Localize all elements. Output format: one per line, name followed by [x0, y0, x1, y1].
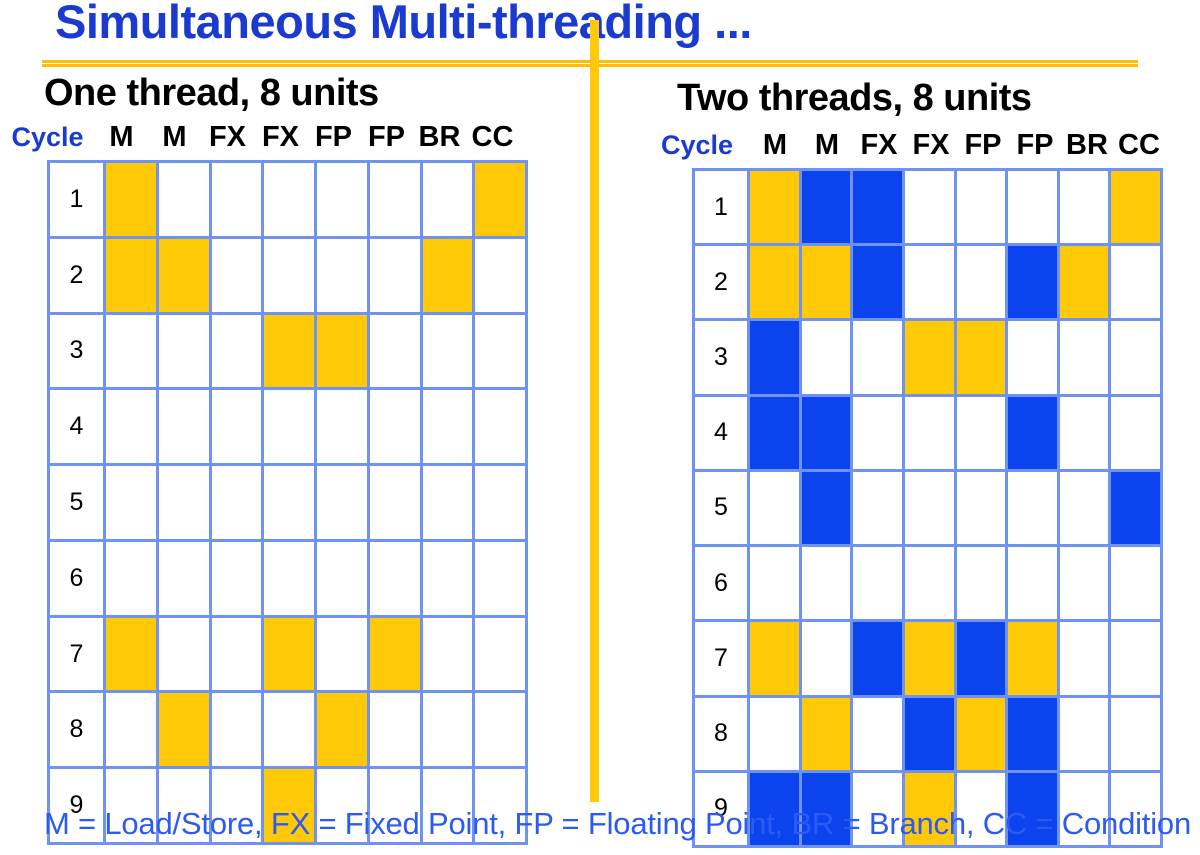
issue-slot-cell-m2-cycle-6: [159, 542, 209, 615]
cycle-number-cell: 1: [50, 163, 103, 236]
cycle-number-cell: 2: [695, 246, 747, 318]
issue-slot-cell-fx2-cycle-2: [905, 246, 954, 318]
issue-slot-cell-m1-cycle-3: [750, 321, 799, 393]
vertical-divider: [590, 20, 599, 802]
column-header-cycle: Cycle: [0, 122, 95, 153]
issue-slot-cell-cc-cycle-5: [1111, 472, 1160, 544]
issue-slot-cell-fx1-cycle-6: [853, 547, 902, 619]
issue-slot-cell-fp1-cycle-3: [957, 321, 1006, 393]
cycle-number-cell: 5: [695, 472, 747, 544]
issue-slot-cell-fx1-cycle-2: [212, 239, 262, 312]
issue-slot-cell-cc-cycle-4: [475, 390, 525, 463]
column-header-unit-fp2: FP: [1009, 129, 1061, 162]
issue-slot-cell-fx2-cycle-7: [264, 618, 314, 691]
issue-slot-cell-fp2-cycle-5: [1008, 472, 1057, 544]
column-header-row-left: Cycle M M FX FX FP FP BR CC: [0, 121, 533, 154]
issue-slot-cell-cc-cycle-2: [1111, 246, 1160, 318]
issue-slot-cell-fx1-cycle-6: [212, 542, 262, 615]
issue-slot-cell-fp2-cycle-6: [1008, 547, 1057, 619]
issue-slot-cell-m2-cycle-8: [802, 698, 851, 770]
issue-slot-cell-fp2-cycle-4: [1008, 397, 1057, 469]
issue-slot-cell-br-cycle-3: [423, 315, 473, 388]
cycle-number-cell: 2: [50, 239, 103, 312]
issue-slot-cell-br-cycle-8: [423, 693, 473, 766]
issue-slot-cell-fp2-cycle-3: [370, 315, 420, 388]
issue-slot-cell-br-cycle-2: [1060, 246, 1109, 318]
issue-slot-cell-br-cycle-2: [423, 239, 473, 312]
issue-slot-cell-fx2-cycle-3: [264, 315, 314, 388]
issue-slot-cell-cc-cycle-2: [475, 239, 525, 312]
issue-slot-cell-fp1-cycle-1: [317, 163, 367, 236]
issue-slot-cell-cc-cycle-6: [475, 542, 525, 615]
issue-slot-cell-m1-cycle-5: [106, 466, 156, 539]
issue-slot-cell-m2-cycle-7: [802, 622, 851, 694]
issue-slot-cell-fp2-cycle-2: [1008, 246, 1057, 318]
issue-slot-cell-m2-cycle-6: [802, 547, 851, 619]
issue-slot-cell-m2-cycle-4: [802, 397, 851, 469]
issue-slot-cell-cc-cycle-7: [1111, 622, 1160, 694]
issue-slot-cell-m2-cycle-1: [159, 163, 209, 236]
issue-slot-cell-br-cycle-7: [423, 618, 473, 691]
issue-slot-cell-m1-cycle-8: [750, 698, 799, 770]
issue-slot-cell-fp2-cycle-4: [370, 390, 420, 463]
issue-slot-cell-cc-cycle-7: [475, 618, 525, 691]
issue-slot-cell-m1-cycle-1: [750, 171, 799, 243]
issue-slot-cell-fx1-cycle-1: [853, 171, 902, 243]
column-header-unit-fx1: FX: [201, 121, 254, 154]
issue-slot-cell-fp2-cycle-1: [1008, 171, 1057, 243]
issue-slot-cell-br-cycle-4: [1060, 397, 1109, 469]
issue-slot-cell-cc-cycle-8: [1111, 698, 1160, 770]
issue-slot-cell-fx2-cycle-2: [264, 239, 314, 312]
column-header-unit-br: BR: [1061, 129, 1113, 162]
issue-slot-cell-fp2-cycle-8: [1008, 698, 1057, 770]
issue-slot-cell-fp1-cycle-2: [317, 239, 367, 312]
issue-slot-cell-fx2-cycle-3: [905, 321, 954, 393]
issue-slot-cell-m2-cycle-1: [802, 171, 851, 243]
issue-slot-cell-fx1-cycle-4: [853, 397, 902, 469]
issue-slot-cell-fx2-cycle-1: [264, 163, 314, 236]
issue-slot-cell-fx1-cycle-5: [212, 466, 262, 539]
issue-slot-cell-br-cycle-8: [1060, 698, 1109, 770]
issue-slot-cell-fx1-cycle-7: [212, 618, 262, 691]
cycle-number-cell: 3: [695, 321, 747, 393]
issue-slot-cell-br-cycle-5: [423, 466, 473, 539]
issue-slot-cell-br-cycle-6: [1060, 547, 1109, 619]
issue-slot-cell-fx2-cycle-6: [905, 547, 954, 619]
column-header-unit-cc: CC: [1113, 129, 1165, 162]
issue-slot-cell-m2-cycle-8: [159, 693, 209, 766]
issue-slot-cell-m1-cycle-3: [106, 315, 156, 388]
issue-slot-cell-br-cycle-1: [423, 163, 473, 236]
issue-slot-cell-fp2-cycle-5: [370, 466, 420, 539]
cycle-number-cell: 7: [695, 622, 747, 694]
issue-slot-cell-fx1-cycle-8: [853, 698, 902, 770]
column-header-row-right: Cycle M M FX FX FP FP BR CC: [645, 129, 1165, 162]
issue-slot-cell-fx1-cycle-1: [212, 163, 262, 236]
cycle-number-cell: 8: [695, 698, 747, 770]
cycle-number-cell: 6: [695, 547, 747, 619]
issue-slot-cell-fp1-cycle-3: [317, 315, 367, 388]
issue-slot-cell-fp1-cycle-7: [957, 622, 1006, 694]
issue-slot-cell-fx1-cycle-7: [853, 622, 902, 694]
issue-slot-cell-fp1-cycle-2: [957, 246, 1006, 318]
column-header-unit-fx2: FX: [905, 129, 957, 162]
issue-slot-cell-fp1-cycle-6: [957, 547, 1006, 619]
issue-slot-cell-m1-cycle-7: [106, 618, 156, 691]
column-header-unit-fp2: FP: [360, 121, 413, 154]
column-header-cycle: Cycle: [645, 130, 749, 161]
issue-slot-cell-br-cycle-4: [423, 390, 473, 463]
issue-slot-cell-m1-cycle-6: [106, 542, 156, 615]
issue-slot-cell-cc-cycle-5: [475, 466, 525, 539]
issue-slot-cell-cc-cycle-3: [475, 315, 525, 388]
issue-slot-cell-br-cycle-5: [1060, 472, 1109, 544]
issue-slot-cell-cc-cycle-6: [1111, 547, 1160, 619]
cycle-number-cell: 8: [50, 693, 103, 766]
column-header-unit-m1: M: [749, 129, 801, 162]
issue-slot-cell-fx2-cycle-4: [905, 397, 954, 469]
column-header-unit-br: BR: [413, 121, 466, 154]
issue-slot-grid-two-threads: 123456789: [692, 168, 1163, 848]
issue-slot-cell-cc-cycle-3: [1111, 321, 1160, 393]
issue-slot-cell-br-cycle-3: [1060, 321, 1109, 393]
issue-slot-cell-br-cycle-1: [1060, 171, 1109, 243]
issue-slot-cell-fx2-cycle-4: [264, 390, 314, 463]
column-header-unit-fp1: FP: [957, 129, 1009, 162]
issue-slot-cell-fp2-cycle-6: [370, 542, 420, 615]
issue-slot-cell-fp2-cycle-2: [370, 239, 420, 312]
column-header-unit-m1: M: [95, 121, 148, 154]
issue-slot-cell-fx1-cycle-3: [853, 321, 902, 393]
issue-slot-cell-fp1-cycle-7: [317, 618, 367, 691]
issue-slot-cell-m2-cycle-4: [159, 390, 209, 463]
issue-slot-cell-m1-cycle-8: [106, 693, 156, 766]
issue-slot-cell-fx2-cycle-7: [905, 622, 954, 694]
issue-slot-cell-fx2-cycle-1: [905, 171, 954, 243]
issue-slot-cell-cc-cycle-1: [1111, 171, 1160, 243]
issue-slot-cell-m1-cycle-5: [750, 472, 799, 544]
column-header-unit-m2: M: [801, 129, 853, 162]
legend-caption: M = Load/Store, FX = Fixed Point, FP = F…: [44, 806, 1194, 842]
issue-slot-cell-fp2-cycle-7: [1008, 622, 1057, 694]
cycle-number-cell: 4: [695, 397, 747, 469]
cycle-number-cell: 3: [50, 315, 103, 388]
issue-slot-cell-fp2-cycle-8: [370, 693, 420, 766]
column-header-unit-fx2: FX: [254, 121, 307, 154]
issue-slot-cell-fx2-cycle-6: [264, 542, 314, 615]
issue-slot-cell-fx1-cycle-8: [212, 693, 262, 766]
issue-slot-grid-one-thread: 123456789: [47, 160, 528, 845]
issue-slot-cell-m2-cycle-3: [802, 321, 851, 393]
cycle-number-cell: 6: [50, 542, 103, 615]
issue-slot-cell-fx1-cycle-2: [853, 246, 902, 318]
issue-slot-cell-m2-cycle-5: [802, 472, 851, 544]
issue-slot-cell-m2-cycle-2: [159, 239, 209, 312]
issue-slot-cell-fp1-cycle-5: [317, 466, 367, 539]
issue-slot-cell-fx2-cycle-8: [264, 693, 314, 766]
issue-slot-cell-br-cycle-7: [1060, 622, 1109, 694]
issue-slot-cell-fx1-cycle-4: [212, 390, 262, 463]
issue-slot-cell-m1-cycle-4: [106, 390, 156, 463]
cycle-number-cell: 1: [695, 171, 747, 243]
issue-slot-cell-fp2-cycle-1: [370, 163, 420, 236]
panel-heading-two-threads: Two threads, 8 units: [677, 77, 1032, 120]
issue-slot-cell-m1-cycle-1: [106, 163, 156, 236]
issue-slot-cell-m2-cycle-5: [159, 466, 209, 539]
issue-slot-cell-m1-cycle-6: [750, 547, 799, 619]
cycle-number-cell: 7: [50, 618, 103, 691]
issue-slot-cell-fp2-cycle-3: [1008, 321, 1057, 393]
column-header-unit-fx1: FX: [853, 129, 905, 162]
issue-slot-cell-fx2-cycle-5: [905, 472, 954, 544]
issue-slot-cell-cc-cycle-8: [475, 693, 525, 766]
issue-slot-cell-cc-cycle-1: [475, 163, 525, 236]
issue-slot-cell-fp1-cycle-4: [317, 390, 367, 463]
issue-slot-cell-m2-cycle-3: [159, 315, 209, 388]
column-header-unit-m2: M: [148, 121, 201, 154]
issue-slot-cell-m2-cycle-7: [159, 618, 209, 691]
issue-slot-cell-fx1-cycle-3: [212, 315, 262, 388]
issue-slot-cell-fp1-cycle-8: [957, 698, 1006, 770]
issue-slot-cell-fx2-cycle-5: [264, 466, 314, 539]
issue-slot-cell-m1-cycle-4: [750, 397, 799, 469]
issue-slot-cell-fp1-cycle-6: [317, 542, 367, 615]
page-title: Simultaneous Multi-threading ...: [55, 0, 1155, 49]
issue-slot-cell-cc-cycle-4: [1111, 397, 1160, 469]
issue-slot-cell-fp1-cycle-4: [957, 397, 1006, 469]
issue-slot-cell-br-cycle-6: [423, 542, 473, 615]
issue-slot-cell-m1-cycle-2: [106, 239, 156, 312]
issue-slot-cell-m1-cycle-7: [750, 622, 799, 694]
cycle-number-cell: 5: [50, 466, 103, 539]
cycle-number-cell: 4: [50, 390, 103, 463]
issue-slot-cell-m1-cycle-2: [750, 246, 799, 318]
column-header-unit-cc: CC: [466, 121, 519, 154]
issue-slot-cell-m2-cycle-2: [802, 246, 851, 318]
issue-slot-cell-fp1-cycle-5: [957, 472, 1006, 544]
issue-slot-cell-fp1-cycle-1: [957, 171, 1006, 243]
issue-slot-cell-fp1-cycle-8: [317, 693, 367, 766]
issue-slot-cell-fx2-cycle-8: [905, 698, 954, 770]
issue-slot-cell-fp2-cycle-7: [370, 618, 420, 691]
issue-slot-cell-fx1-cycle-5: [853, 472, 902, 544]
panel-heading-one-thread: One thread, 8 units: [44, 72, 379, 115]
column-header-unit-fp1: FP: [307, 121, 360, 154]
